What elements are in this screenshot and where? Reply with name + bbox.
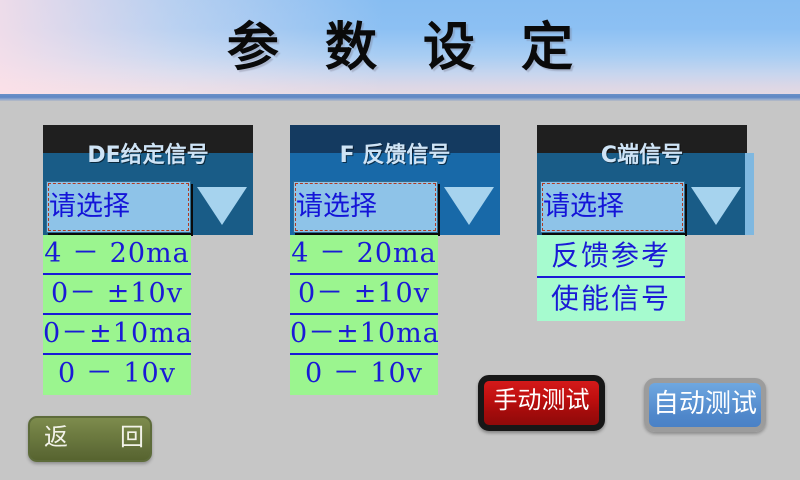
back-button[interactable]: 返 回: [28, 416, 152, 462]
parameter-settings-screen: 参 数 设 定 DE给定信号 请选择 4 － 20ma 0－ ±10v 0－±1…: [0, 0, 800, 480]
combo-f[interactable]: 请选择: [293, 181, 438, 233]
signal-panel-c: C端信号 请选择: [537, 125, 747, 235]
chevron-down-icon-c[interactable]: [691, 187, 741, 225]
manual-test-button[interactable]: 手动测试: [478, 375, 605, 431]
panel-title-c: C端信号: [537, 134, 747, 178]
combo-value-c: 请选择: [543, 193, 624, 220]
list-item[interactable]: 使能信号: [537, 278, 685, 321]
auto-test-button[interactable]: 自动测试: [644, 378, 766, 432]
list-item[interactable]: 0－±10ma: [43, 315, 191, 355]
combo-de[interactable]: 请选择: [46, 181, 191, 233]
option-list-de[interactable]: 4 － 20ma 0－ ±10v 0－±10ma 0 － 10v: [43, 235, 191, 395]
panel-title-de: DE给定信号: [43, 134, 253, 178]
list-item[interactable]: 反馈参考: [537, 235, 685, 278]
chevron-down-icon-de[interactable]: [197, 187, 247, 225]
signal-panel-f: F 反馈信号 请选择: [290, 125, 500, 235]
combo-value-f: 请选择: [296, 193, 377, 220]
list-item[interactable]: 4 － 20ma: [290, 235, 438, 275]
signal-panel-de: DE给定信号 请选择: [43, 125, 253, 235]
list-item[interactable]: 0 － 10v: [290, 355, 438, 395]
combo-c[interactable]: 请选择: [540, 181, 685, 233]
chevron-down-icon-f[interactable]: [444, 187, 494, 225]
list-item[interactable]: 0－ ±10v: [43, 275, 191, 315]
option-list-c[interactable]: 反馈参考 使能信号: [537, 235, 685, 321]
panel-title-f: F 反馈信号: [290, 134, 500, 178]
header-divider-band: [0, 94, 800, 101]
list-item[interactable]: 0－ ±10v: [290, 275, 438, 315]
page-title: 参 数 设 定: [0, 12, 800, 84]
combo-value-de: 请选择: [49, 193, 130, 220]
list-item[interactable]: 0－±10ma: [290, 315, 438, 355]
option-list-f[interactable]: 4 － 20ma 0－ ±10v 0－±10ma 0 － 10v: [290, 235, 438, 395]
list-item[interactable]: 0 － 10v: [43, 355, 191, 395]
header-banner: 参 数 设 定: [0, 0, 800, 96]
list-item[interactable]: 4 － 20ma: [43, 235, 191, 275]
